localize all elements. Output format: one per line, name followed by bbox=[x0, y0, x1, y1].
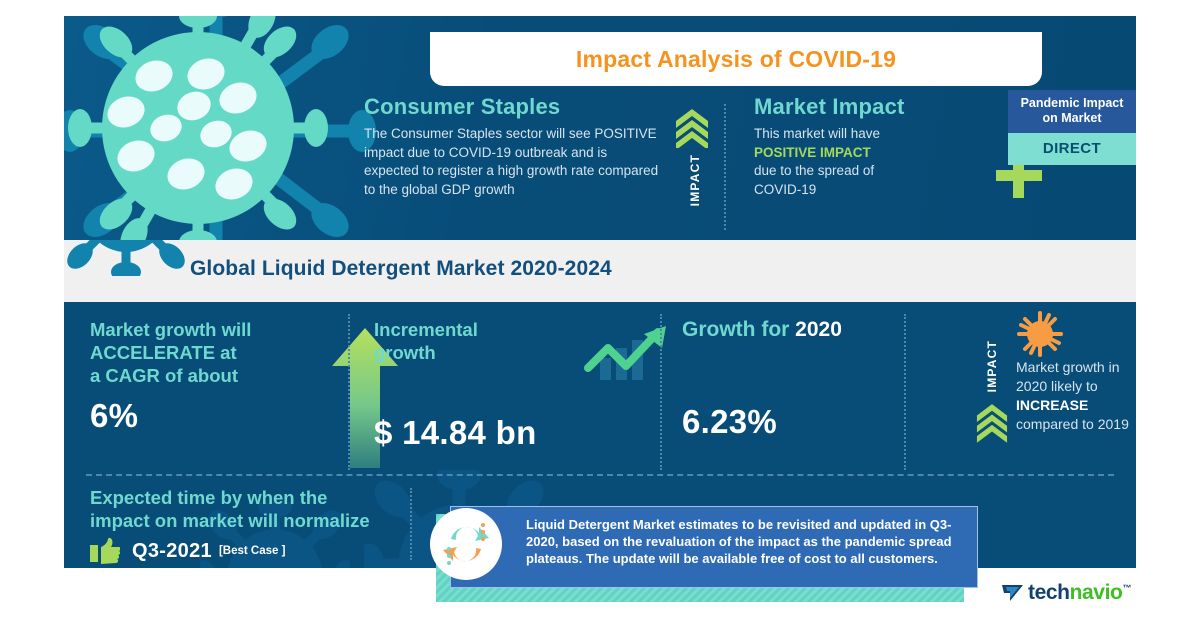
metric-cagr: Market growth will ACCELERATE at a CAGR … bbox=[90, 318, 340, 435]
pandemic-impact-box: Pandemic Impact on Market DIRECT bbox=[1008, 90, 1136, 165]
cagr-line3: a CAGR of about bbox=[90, 365, 238, 386]
impact-right-line2: 2020 likely to bbox=[1016, 378, 1098, 394]
pandemic-heading-line2: on Market bbox=[1042, 111, 1101, 125]
normalize-case-best: [Best Case ] bbox=[219, 545, 285, 557]
impact-indicator-top: IMPACT bbox=[675, 108, 715, 211]
market-impact-block: Market Impact This market will have POSI… bbox=[754, 94, 1004, 199]
consumer-staples-block: Consumer Staples The Consumer Staples se… bbox=[364, 94, 664, 199]
chevrons-up-icon bbox=[976, 403, 1008, 443]
market-impact-line1: This market will have bbox=[754, 126, 880, 141]
divider-horizontal bbox=[86, 474, 1114, 476]
logo-trademark: ™ bbox=[1122, 583, 1131, 593]
incremental-line1: Incremental bbox=[374, 319, 478, 340]
cagr-value: 6% bbox=[90, 397, 340, 435]
cagr-line1: Market growth will bbox=[90, 319, 251, 340]
divider-normalize bbox=[410, 488, 412, 560]
infographic-root: Impact Analysis of COVID-19 Consumer Sta… bbox=[0, 0, 1200, 627]
impact-label-top: IMPACT bbox=[688, 154, 702, 206]
impact-label-right: IMPACT bbox=[985, 340, 999, 392]
refresh-cycle-icon bbox=[441, 519, 491, 569]
normalize-row-best: Q3-2021 [Best Case ] bbox=[90, 538, 430, 564]
thumbs-up-icon bbox=[90, 538, 120, 564]
pandemic-impact-value: DIRECT bbox=[1008, 133, 1136, 165]
technavio-arrow-icon bbox=[1002, 582, 1024, 604]
coronavirus-orange-icon bbox=[1016, 310, 1064, 358]
growth-2020-year: 2020 bbox=[795, 318, 842, 341]
page-title: Impact Analysis of COVID-19 bbox=[576, 46, 896, 73]
logo-part-navio: navio bbox=[1070, 581, 1123, 604]
callout-box: Liquid Detergent Market estimates to be … bbox=[450, 506, 978, 588]
divider-metric-2 bbox=[660, 314, 662, 470]
pandemic-impact-heading: Pandemic Impact on Market bbox=[1008, 90, 1136, 133]
impact-indicator-right: IMPACT bbox=[970, 314, 1014, 443]
divider-top-1 bbox=[724, 104, 726, 230]
market-impact-highlight: POSITIVE IMPACT bbox=[754, 145, 871, 160]
impact-right-line3: compared to 2019 bbox=[1016, 416, 1129, 432]
report-title: Global Liquid Detergent Market 2020-2024 bbox=[190, 257, 612, 281]
incremental-line2: growth bbox=[374, 342, 436, 363]
cagr-line2: ACCELERATE at bbox=[90, 342, 237, 363]
report-title-banner: Global Liquid Detergent Market 2020-2024 bbox=[64, 240, 1136, 302]
pandemic-heading-line1: Pandemic Impact bbox=[1021, 96, 1124, 110]
logo-part-tech: tech bbox=[1028, 581, 1070, 604]
coronavirus-icon bbox=[64, 16, 378, 240]
coronavirus-watermark-icon bbox=[64, 240, 192, 276]
technavio-logo-text: technavio™ bbox=[1028, 581, 1131, 605]
callout-badge bbox=[430, 508, 502, 580]
market-impact-line2: due to the spread of bbox=[754, 163, 874, 178]
divider-metric-1 bbox=[348, 314, 350, 470]
title-plate: Impact Analysis of COVID-19 bbox=[430, 32, 1042, 86]
impact-right-text: Market growth in 2020 likely to INCREASE… bbox=[1016, 358, 1136, 434]
top-impact-panel: Impact Analysis of COVID-19 Consumer Sta… bbox=[64, 16, 1136, 240]
impact-right-line1: Market growth in bbox=[1016, 359, 1119, 375]
growth-2020-value: 6.23% bbox=[682, 403, 942, 441]
divider-metric-3 bbox=[904, 314, 906, 470]
normalize-block: Expected time by when the impact on mark… bbox=[90, 486, 430, 568]
chevrons-up-icon bbox=[675, 108, 709, 148]
callout-text: Liquid Detergent Market estimates to be … bbox=[526, 516, 968, 567]
normalize-title-line2: impact on market will normalize bbox=[90, 510, 370, 531]
metric-growth-2020: Growth for 2020 6.23% bbox=[682, 318, 942, 441]
technavio-logo: technavio™ bbox=[1002, 578, 1136, 608]
normalize-quarter-best: Q3-2021 bbox=[132, 540, 212, 563]
market-impact-line3: COVID-19 bbox=[754, 182, 816, 197]
impact-right-highlight: INCREASE bbox=[1016, 397, 1088, 413]
consumer-staples-heading: Consumer Staples bbox=[364, 94, 664, 120]
market-impact-heading: Market Impact bbox=[754, 94, 1004, 120]
consumer-staples-body: The Consumer Staples sector will see POS… bbox=[364, 125, 664, 199]
growth-2020-label: Growth for bbox=[682, 318, 789, 341]
normalize-title-line1: Expected time by when the bbox=[90, 487, 327, 508]
incremental-value: $ 14.84 bn bbox=[374, 414, 624, 452]
line-chart-up-icon bbox=[582, 324, 672, 384]
